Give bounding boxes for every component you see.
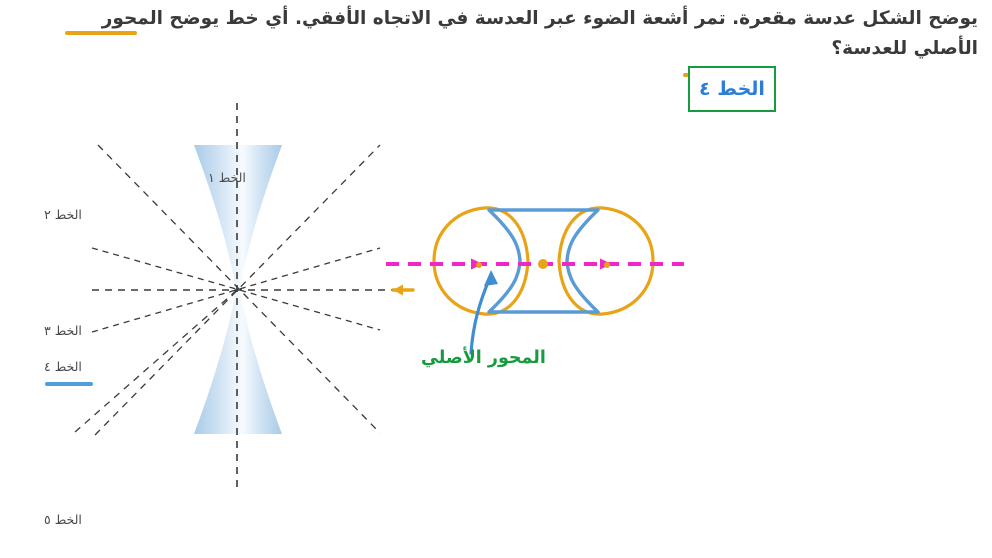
question-line-2: الأصلي للعدسة؟ [78,34,978,64]
right-circle [559,208,653,314]
incoming-ray-arrow [393,285,413,296]
ray-diagram: الخط ١ الخط ٢ الخط ٣ الخط ٤ الخط ٥ [0,80,420,520]
line-4-highlight-underline [45,382,93,386]
right-focus-dot [604,262,610,268]
ray-diagram-svg [0,80,420,520]
question-underline-primary [65,31,137,35]
question-line-1: يوضح الشكل عدسة مقعرة. تمر أشعة الضوء عب… [78,4,978,34]
ray-label-line-3: الخط ٣ [44,323,82,338]
question-text: يوضح الشكل عدسة مقعرة. تمر أشعة الضوء عب… [78,4,978,64]
answer-value: الخط ٤ [699,78,765,100]
answer-box[interactable]: الخط ٤ [688,66,776,112]
optical-center-dot [538,259,548,269]
lens-axis-svg [376,185,716,335]
ray-label-line-4: الخط ٤ [44,359,82,374]
ray-label-line-2: الخط ٢ [44,207,82,222]
principal-axis-label: المحور الأصلي [421,348,546,368]
screenshot-canvas: يوضح الشكل عدسة مقعرة. تمر أشعة الضوء عب… [0,0,992,558]
ray-label-line-1: الخط ١ [208,170,246,185]
annotation-arrow-icon [455,255,515,355]
lens-axis-diagram [376,185,716,335]
ray-label-line-5: الخط ٥ [44,512,82,527]
